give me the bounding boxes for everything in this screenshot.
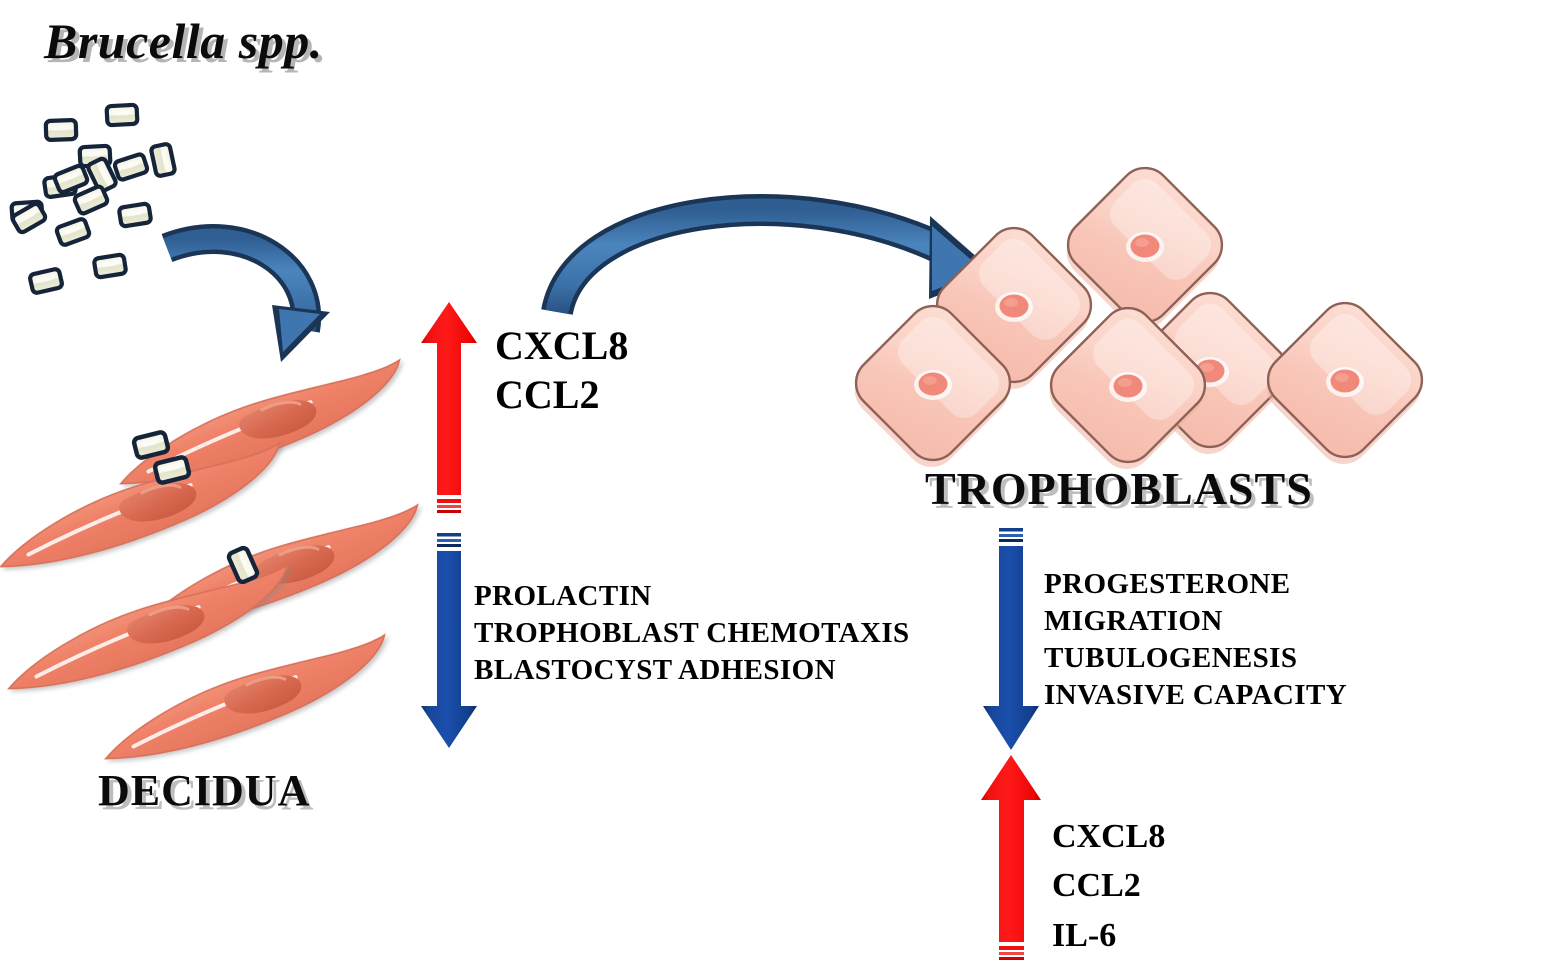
bacterium: [73, 185, 108, 215]
decidua-label: DECIDUA: [98, 765, 310, 816]
trophoblast-cell-group: [841, 157, 1435, 479]
right-down-item-4: INVASIVE CAPACITY: [1044, 677, 1347, 714]
bacterium: [54, 165, 89, 194]
figure-canvas: Brucella spp. DECIDUA TROPHOBLASTS CXCL8…: [0, 0, 1558, 968]
left-down-item-1: PROLACTIN: [474, 578, 910, 615]
bacterium: [133, 431, 169, 458]
right-up-item-2: CCL2: [1052, 861, 1165, 910]
right-downregulated-functions: PROGESTERONE MIGRATION TUBULOGENESIS INV…: [1044, 566, 1347, 714]
right-down-item-2: MIGRATION: [1044, 603, 1347, 640]
right-down-item-3: TUBULOGENESIS: [1044, 640, 1347, 677]
bacterium: [94, 254, 127, 277]
bacterium: [107, 105, 138, 126]
trophoblast-cell: [1253, 292, 1435, 474]
bacterium: [119, 203, 152, 226]
bacterium: [29, 268, 63, 293]
diagram-graphics: [0, 0, 1558, 968]
title-species: spp.: [226, 13, 323, 69]
infection-curved-arrow: [167, 239, 330, 362]
signaling-curved-arrow: [557, 210, 995, 312]
right-upregulated-cytokines: CXCL8 CCL2 IL-6: [1052, 812, 1165, 960]
left-upregulated-cytokines: CXCL8 CCL2: [495, 322, 628, 420]
right-up-item-3: IL-6: [1052, 911, 1165, 960]
left-down-item-2: TROPHOBLAST CHEMOTAXIS: [474, 615, 910, 652]
left-up-item-1: CXCL8: [495, 322, 628, 371]
figure-title: Brucella spp.: [44, 12, 323, 70]
trophoblasts-label: TROPHOBLASTS: [925, 462, 1313, 515]
left-down-item-3: BLASTOCYST ADHESION: [474, 652, 910, 689]
bacterium: [114, 153, 148, 180]
left-downregulation-arrow: [421, 533, 477, 748]
right-upregulation-arrow: [981, 755, 1041, 960]
brucella-bacilli-cluster: [11, 105, 175, 294]
left-upregulation-arrow: [421, 302, 477, 513]
right-downregulation-arrow: [983, 528, 1039, 750]
right-up-item-1: CXCL8: [1052, 812, 1165, 861]
bacterium: [154, 456, 190, 483]
bacterium: [46, 120, 77, 140]
bacterium: [56, 218, 91, 246]
title-genus: Brucella: [44, 13, 226, 69]
right-down-item-1: PROGESTERONE: [1044, 566, 1347, 603]
decidua-cell-group: [0, 360, 432, 770]
left-downregulated-functions: PROLACTIN TROPHOBLAST CHEMOTAXIS BLASTOC…: [474, 578, 910, 689]
left-up-item-2: CCL2: [495, 371, 628, 420]
bacterium: [151, 143, 176, 176]
